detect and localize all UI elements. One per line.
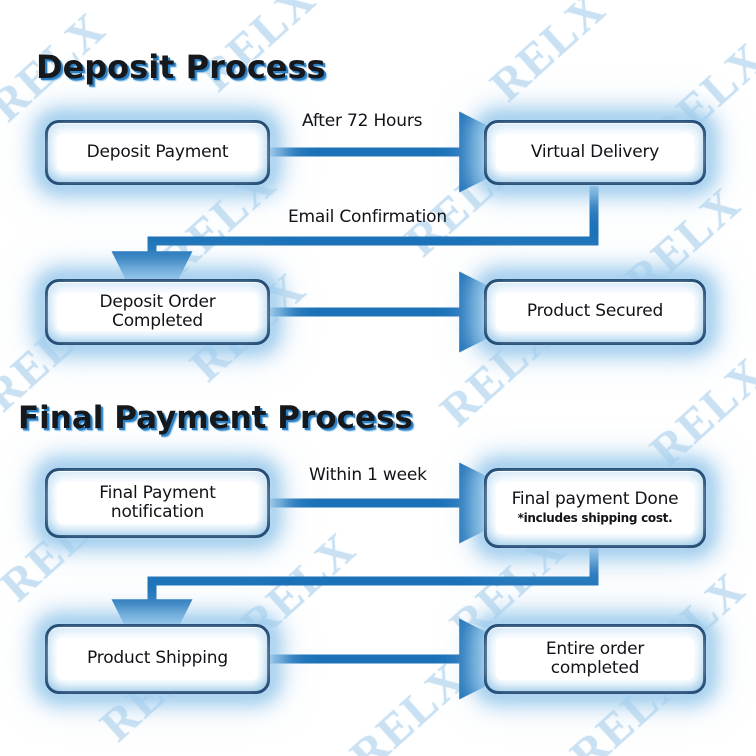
node-deposit-order-completed[interactable]: Deposit Order Completed [45, 279, 270, 345]
edge-label-email-confirmation: Email Confirmation [288, 207, 447, 227]
edge-label-after-72-hours: After 72 Hours [302, 111, 422, 131]
node-body: Deposit Order Completed [57, 293, 258, 331]
node-label: Entire order completed [546, 640, 644, 679]
edge-label-within-1-week: Within 1 week [309, 465, 427, 485]
node-body: Virtual Delivery [496, 134, 694, 171]
watermark-text: RELX [640, 346, 756, 476]
node-label: Product Shipping [87, 649, 228, 668]
section-heading-final-payment-process: Final Payment Process [18, 400, 413, 436]
node-body: Entire order completed [496, 638, 694, 680]
node-virtual-delivery[interactable]: Virtual Delivery [484, 120, 706, 185]
node-body: Final Payment notification [57, 482, 258, 524]
node-deposit-payment[interactable]: Deposit Payment [45, 120, 270, 185]
node-product-shipping[interactable]: Product Shipping [45, 624, 270, 694]
watermark-text: RELX [480, 0, 616, 112]
node-body: Final payment Done *includes shipping co… [496, 482, 694, 534]
node-label: Virtual Delivery [531, 143, 659, 162]
section-heading-deposit-process: Deposit Process [36, 48, 326, 86]
node-product-secured[interactable]: Product Secured [484, 279, 706, 345]
node-body: Product Secured [496, 293, 694, 331]
node-entire-order-completed[interactable]: Entire order completed [484, 624, 706, 694]
diagram-canvas: RELX RELX RELX RELX RELX RELX RELX RELX … [0, 0, 756, 756]
node-final-payment-done[interactable]: Final payment Done *includes shipping co… [484, 468, 706, 548]
node-body: Deposit Payment [57, 134, 258, 171]
node-label: Final Payment notification [99, 484, 215, 523]
node-label: Deposit Order Completed [99, 293, 215, 332]
arrow-final-payment-done-to-product-shipping [152, 548, 594, 610]
node-body: Product Shipping [57, 638, 258, 680]
node-label: Deposit Payment [87, 143, 229, 162]
watermark-text: RELX [340, 651, 476, 756]
node-note: *includes shipping cost. [518, 512, 673, 526]
node-final-payment-notification[interactable]: Final Payment notification [45, 468, 270, 538]
node-label: Product Secured [527, 302, 663, 321]
node-label: Final payment Done [512, 490, 679, 509]
